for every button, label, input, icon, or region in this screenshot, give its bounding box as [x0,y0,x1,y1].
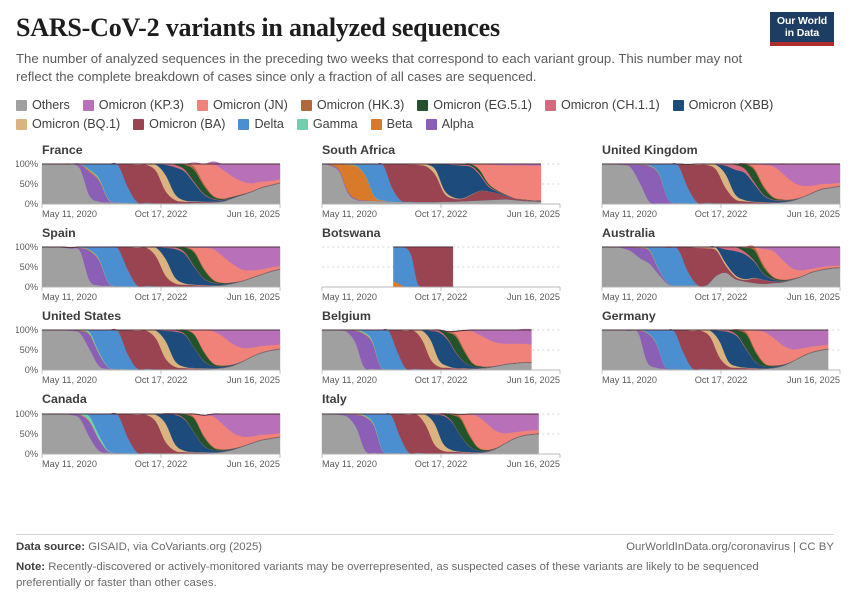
legend-label: Alpha [442,117,474,131]
legend-item-omicron-hk-3[interactable]: Omicron (HK.3) [301,98,404,112]
chart-panel-canada[interactable]: Canada0%50%100%May 11, 2020Oct 17, 2022J… [16,391,284,471]
footer-divider [16,534,834,535]
panel-plot: May 11, 2020Oct 17, 2022Jun 16, 2025 [296,160,564,222]
x-tick-label: Jun 16, 2025 [227,209,280,219]
x-tick-label: May 11, 2020 [42,375,97,385]
legend-item-beta[interactable]: Beta [371,117,413,131]
data-source: Data source: GISAID, via CoVariants.org … [16,541,262,553]
chart-panel-italy[interactable]: ItalyMay 11, 2020Oct 17, 2022Jun 16, 202… [296,391,564,471]
footer-note-label: Note: [16,561,45,573]
legend-swatch-icon [197,100,208,111]
panel-title: Botswana [322,225,564,241]
panel-plot: 0%50%100%May 11, 2020Oct 17, 2022Jun 16,… [16,160,284,222]
legend-item-omicron-ba[interactable]: Omicron (BA) [133,117,225,131]
attribution-link[interactable]: OurWorldInData.org/coronavirus | CC BY [626,541,834,553]
x-tick-label: Oct 17, 2022 [135,209,188,219]
x-tick-label: Oct 17, 2022 [415,292,468,302]
legend-swatch-icon [238,119,249,130]
data-source-label: Data source: [16,541,85,553]
x-tick-label: Jun 16, 2025 [787,209,840,219]
chart-panel-botswana[interactable]: BotswanaMay 11, 2020Oct 17, 2022Jun 16, … [296,225,564,305]
legend-swatch-icon [133,119,144,130]
legend-item-omicron-kp-3[interactable]: Omicron (KP.3) [83,98,184,112]
legend-swatch-icon [426,119,437,130]
x-tick-label: Jun 16, 2025 [507,292,560,302]
owid-logo[interactable]: Our World in Data [770,12,834,46]
panel-title: Spain [42,225,284,241]
legend-swatch-icon [16,100,27,111]
chart-panel-belgium[interactable]: BelgiumMay 11, 2020Oct 17, 2022Jun 16, 2… [296,308,564,388]
chart-panel-united-states[interactable]: United States0%50%100%May 11, 2020Oct 17… [16,308,284,388]
panel-plot: May 11, 2020Oct 17, 2022Jun 16, 2025 [576,243,844,305]
legend-label: Omicron (CH.1.1) [561,98,660,112]
panel-plot: 0%50%100%May 11, 2020Oct 17, 2022Jun 16,… [16,410,284,472]
x-tick-label: May 11, 2020 [42,292,97,302]
panel-plot: 0%50%100%May 11, 2020Oct 17, 2022Jun 16,… [16,326,284,388]
y-tick-label: 50% [20,429,38,439]
x-tick-label: Jun 16, 2025 [507,459,560,469]
chart-legend: OthersOmicron (KP.3)Omicron (JN)Omicron … [16,98,834,131]
legend-label: Gamma [313,117,358,131]
legend-item-omicron-eg-5-1[interactable]: Omicron (EG.5.1) [417,98,532,112]
legend-swatch-icon [16,119,27,130]
panel-title: France [42,142,284,158]
y-tick-label: 100% [16,326,38,335]
legend-item-omicron-ch-1-1[interactable]: Omicron (CH.1.1) [545,98,660,112]
y-tick-label: 50% [20,346,38,356]
legend-label: Others [32,98,70,112]
panel-plot: May 11, 2020Oct 17, 2022Jun 16, 2025 [296,243,564,305]
legend-item-others[interactable]: Others [16,98,70,112]
chart-panel-germany[interactable]: GermanyMay 11, 2020Oct 17, 2022Jun 16, 2… [576,308,844,388]
legend-swatch-icon [673,100,684,111]
panel-plot: May 11, 2020Oct 17, 2022Jun 16, 2025 [576,326,844,388]
legend-swatch-icon [83,100,94,111]
y-tick-label: 50% [20,179,38,189]
chart-panel-spain[interactable]: Spain0%50%100%May 11, 2020Oct 17, 2022Ju… [16,225,284,305]
legend-label: Omicron (JN) [213,98,288,112]
y-tick-label: 100% [16,160,38,169]
legend-label: Omicron (KP.3) [99,98,184,112]
x-tick-label: Oct 17, 2022 [415,375,468,385]
x-tick-label: Jun 16, 2025 [507,375,560,385]
y-tick-label: 0% [25,366,38,376]
x-tick-label: Jun 16, 2025 [227,292,280,302]
panel-plot: 0%50%100%May 11, 2020Oct 17, 2022Jun 16,… [16,243,284,305]
legend-swatch-icon [417,100,428,111]
legend-item-omicron-jn[interactable]: Omicron (JN) [197,98,288,112]
legend-label: Omicron (XBB) [689,98,774,112]
chart-page: SARS-CoV-2 variants in analyzed sequence… [0,0,850,600]
x-tick-label: Oct 17, 2022 [135,459,188,469]
chart-panel-united-kingdom[interactable]: United KingdomMay 11, 2020Oct 17, 2022Ju… [576,142,844,222]
legend-item-omicron-bq-1[interactable]: Omicron (BQ.1) [16,117,120,131]
y-tick-label: 50% [20,263,38,273]
x-tick-label: Jun 16, 2025 [227,375,280,385]
x-tick-label: May 11, 2020 [322,459,377,469]
x-tick-label: Oct 17, 2022 [135,375,188,385]
y-tick-label: 0% [25,283,38,293]
legend-item-gamma[interactable]: Gamma [297,117,358,131]
legend-label: Delta [254,117,283,131]
x-tick-label: Jun 16, 2025 [787,292,840,302]
x-tick-label: Oct 17, 2022 [695,209,748,219]
x-tick-label: May 11, 2020 [602,292,657,302]
x-tick-label: May 11, 2020 [42,459,97,469]
chart-footer: Data source: GISAID, via CoVariants.org … [16,534,834,592]
page-title: SARS-CoV-2 variants in analyzed sequence… [16,14,834,43]
x-tick-label: Jun 16, 2025 [787,375,840,385]
panel-title: United Kingdom [602,142,844,158]
chart-panel-france[interactable]: France0%50%100%May 11, 2020Oct 17, 2022J… [16,142,284,222]
x-tick-label: Oct 17, 2022 [415,209,468,219]
legend-swatch-icon [371,119,382,130]
x-tick-label: May 11, 2020 [322,292,377,302]
legend-label: Omicron (HK.3) [317,98,404,112]
legend-swatch-icon [545,100,556,111]
footer-note: Note: Recently-discovered or actively-mo… [16,560,806,592]
footer-note-text: Recently-discovered or actively-monitore… [16,561,759,589]
x-tick-label: Jun 16, 2025 [227,459,280,469]
chart-panel-australia[interactable]: AustraliaMay 11, 2020Oct 17, 2022Jun 16,… [576,225,844,305]
panel-title: Canada [42,391,284,407]
legend-label: Omicron (BA) [149,117,225,131]
chart-header: SARS-CoV-2 variants in analyzed sequence… [16,0,834,87]
panel-title: United States [42,308,284,324]
legend-item-alpha[interactable]: Alpha [426,117,474,131]
legend-item-omicron-xbb[interactable]: Omicron (XBB) [673,98,774,112]
y-tick-label: 0% [25,199,38,209]
legend-label: Omicron (EG.5.1) [433,98,532,112]
chart-panel-south-africa[interactable]: South AfricaMay 11, 2020Oct 17, 2022Jun … [296,142,564,222]
x-tick-label: Oct 17, 2022 [695,375,748,385]
x-tick-label: May 11, 2020 [322,209,377,219]
panel-title: Italy [322,391,564,407]
panel-title: Germany [602,308,844,324]
owid-logo-line1: Our World [770,16,834,28]
y-tick-label: 100% [16,410,38,419]
legend-label: Omicron (BQ.1) [32,117,120,131]
x-tick-label: May 11, 2020 [42,209,97,219]
legend-swatch-icon [301,100,312,111]
legend-label: Beta [387,117,413,131]
x-tick-label: Jun 16, 2025 [507,209,560,219]
owid-logo-line2: in Data [770,28,834,40]
x-tick-label: Oct 17, 2022 [415,459,468,469]
panel-title: Australia [602,225,844,241]
y-tick-label: 0% [25,449,38,459]
small-multiples-grid: France0%50%100%May 11, 2020Oct 17, 2022J… [16,142,834,472]
x-tick-label: Oct 17, 2022 [695,292,748,302]
legend-item-delta[interactable]: Delta [238,117,283,131]
panel-title: Belgium [322,308,564,324]
x-tick-label: May 11, 2020 [322,375,377,385]
panel-plot: May 11, 2020Oct 17, 2022Jun 16, 2025 [576,160,844,222]
x-tick-label: Oct 17, 2022 [135,292,188,302]
panel-title: South Africa [322,142,564,158]
data-source-text: GISAID, via CoVariants.org (2025) [88,541,262,553]
legend-swatch-icon [297,119,308,130]
chart-subtitle: The number of analyzed sequences in the … [16,50,751,87]
y-tick-label: 100% [16,243,38,252]
panel-plot: May 11, 2020Oct 17, 2022Jun 16, 2025 [296,410,564,472]
x-tick-label: May 11, 2020 [602,375,657,385]
panel-plot: May 11, 2020Oct 17, 2022Jun 16, 2025 [296,326,564,388]
x-tick-label: May 11, 2020 [602,209,657,219]
